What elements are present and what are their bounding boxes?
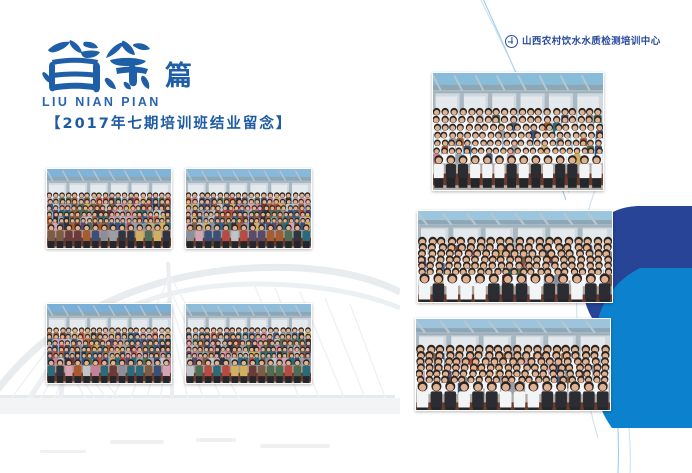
brochure-page: 山西农村饮水水质检测培训中心 (0, 0, 692, 473)
calligraphy-liunian (40, 38, 162, 94)
group-photo (415, 318, 611, 411)
brand-logo: 山西农村饮水水质检测培训中心 (505, 35, 661, 48)
group-photo (185, 303, 312, 384)
group-photo (417, 210, 613, 303)
brand-name: 山西农村饮水水质检测培训中心 (522, 36, 661, 47)
group-photo (46, 303, 172, 384)
group-photo (46, 168, 172, 249)
title-block: 篇 LIU NIAN PIAN (40, 38, 192, 109)
water-drop-circle-logo-icon (505, 35, 518, 48)
group-photo (185, 168, 312, 249)
title-pinyin: LIU NIAN PIAN (42, 95, 192, 109)
title-suffix: 篇 (165, 63, 192, 90)
page-subtitle: 【2017年七期培训班结业留念】 (46, 112, 292, 133)
group-photo (432, 72, 604, 191)
